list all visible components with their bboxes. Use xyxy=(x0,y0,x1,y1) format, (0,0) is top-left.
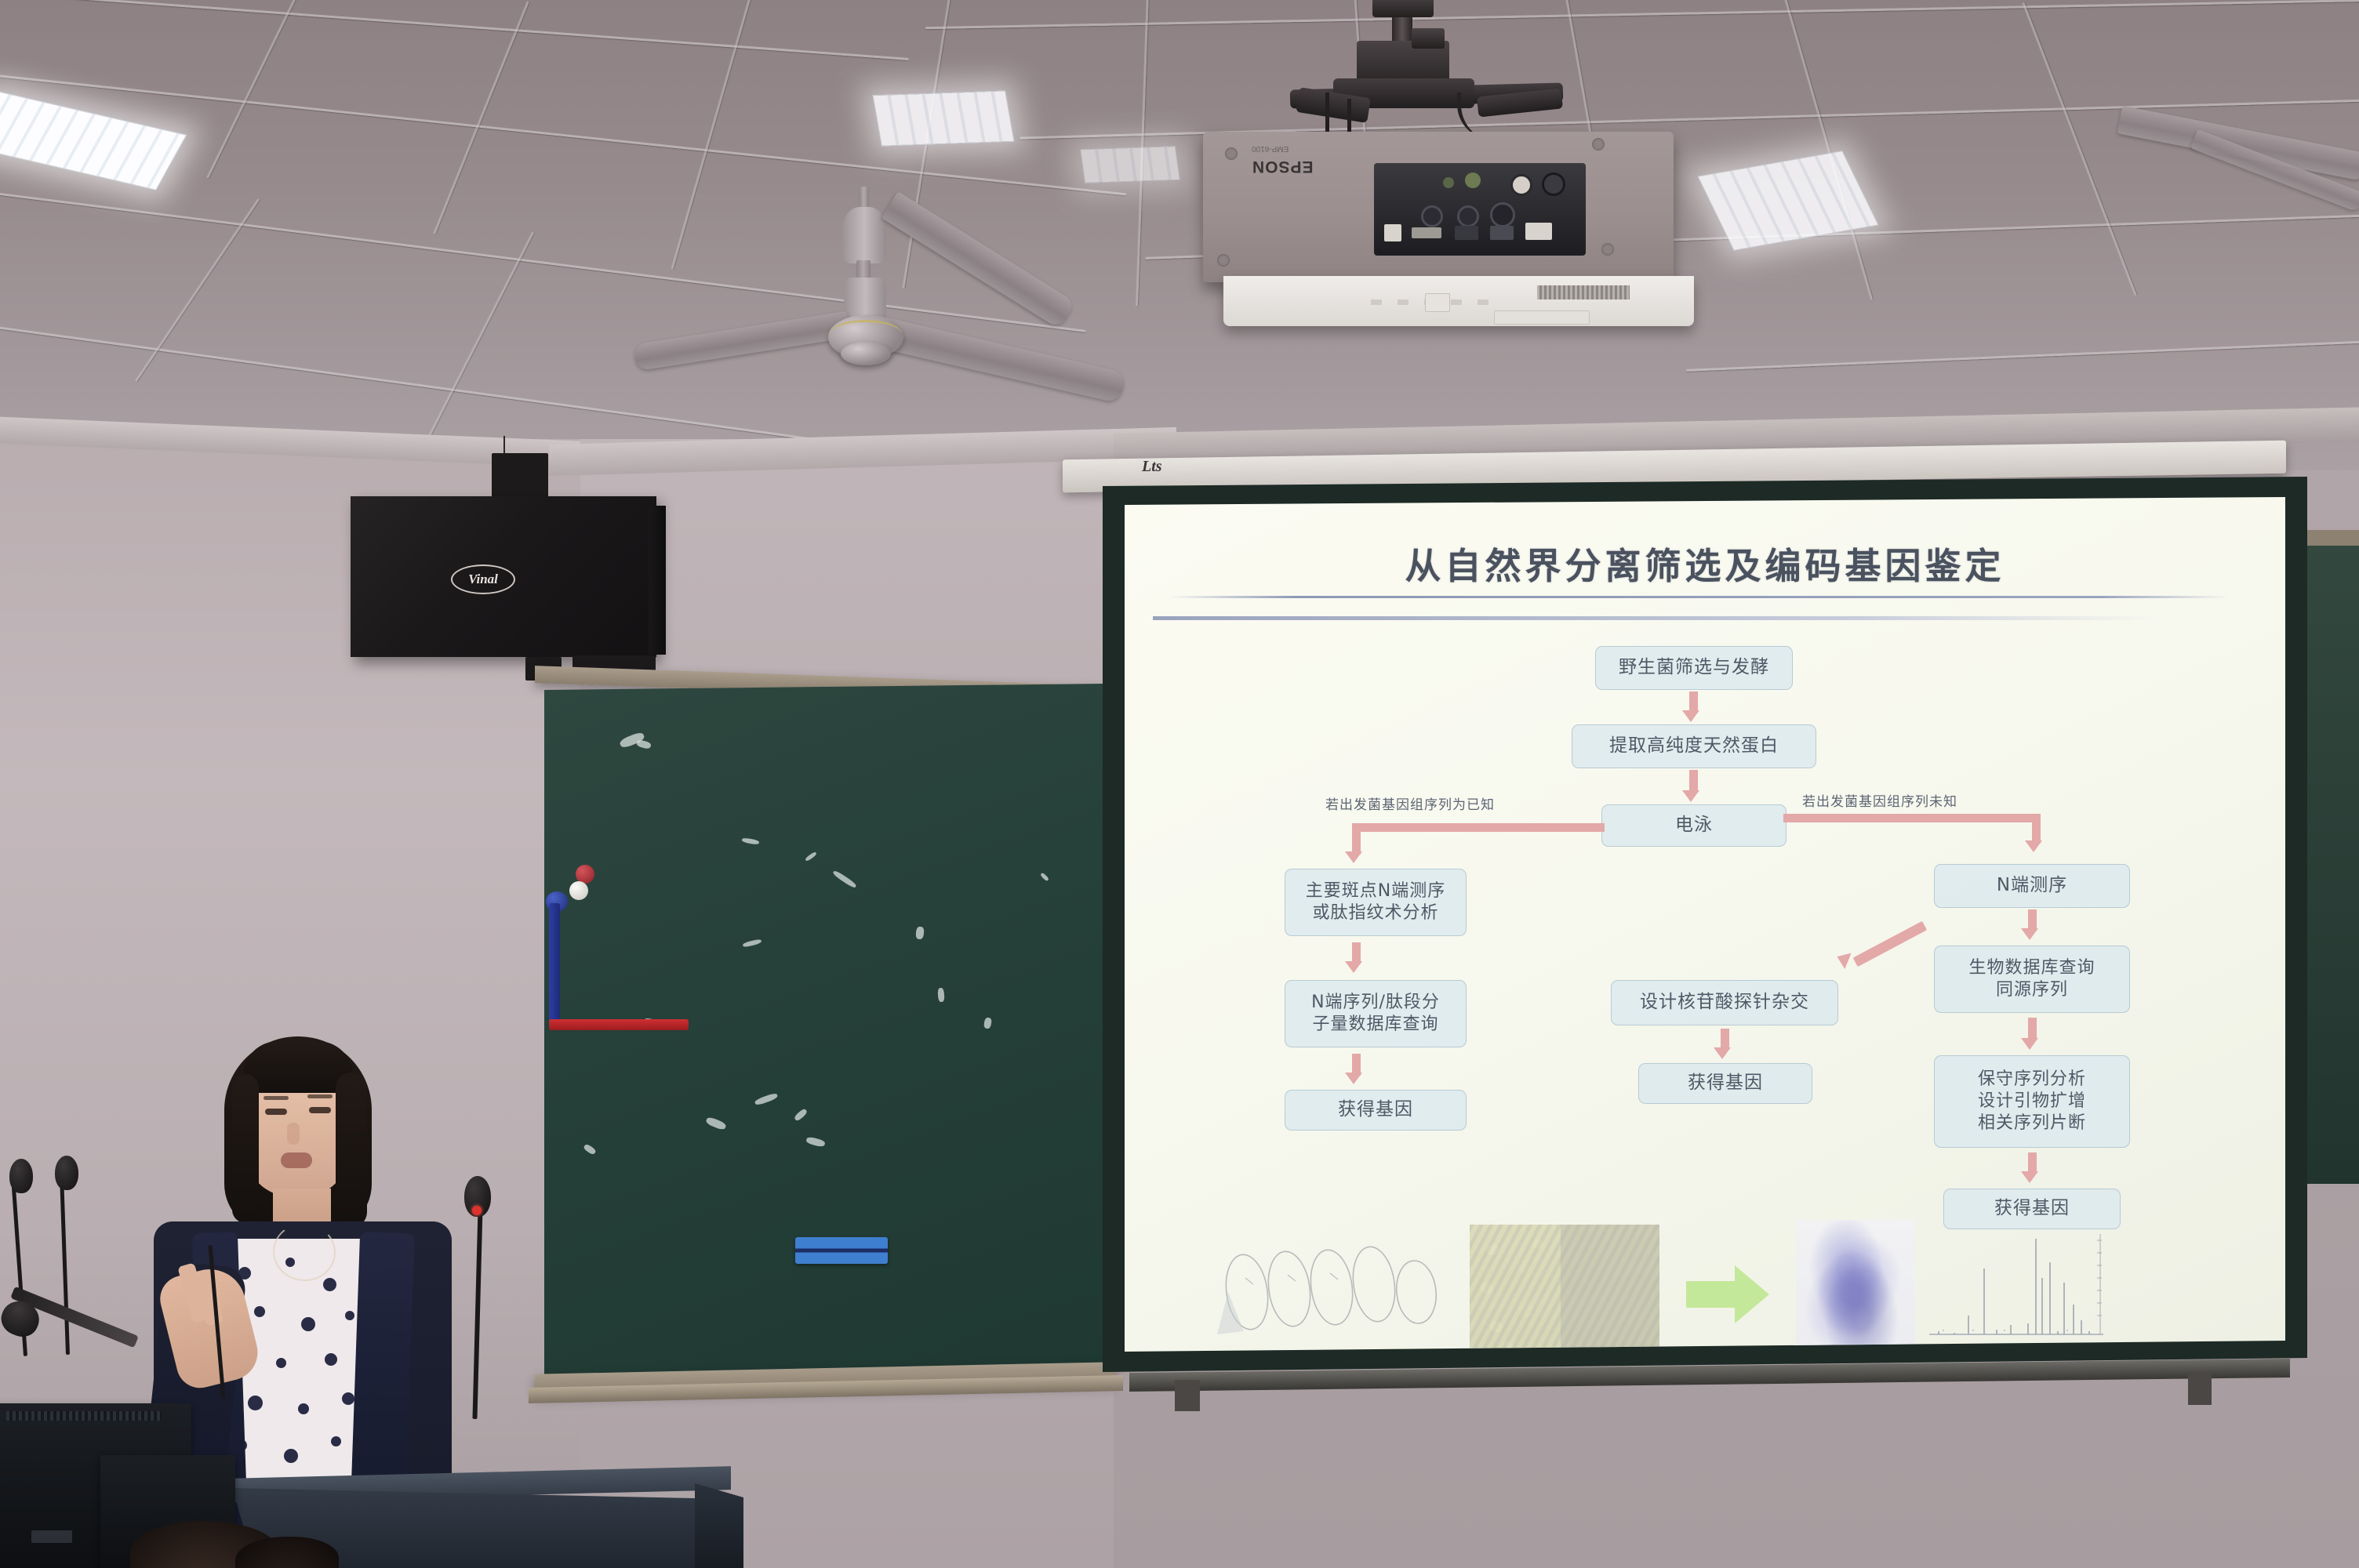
branch-label-right: 若出发菌基因组序列未知 xyxy=(1802,790,1957,810)
ceiling-light-center xyxy=(872,90,1014,147)
ceiling-light-far-right xyxy=(1080,146,1180,183)
flow-node-mid-2: 获得基因 xyxy=(1638,1063,1812,1104)
flow-node-left-2: N端序列/肽段分 子量数据库查询 xyxy=(1285,980,1467,1047)
flow-node-left-1: 主要斑点N端测序 或肽指纹术分析 xyxy=(1285,869,1467,936)
flow-node-right-3: 保守序列分析 设计引物扩增 相关序列片断 xyxy=(1934,1055,2130,1148)
branch-label-left: 若出发菌基因组序列为已知 xyxy=(1325,793,1495,813)
board-magnet-white[interactable] xyxy=(569,881,588,900)
board-strip-red[interactable] xyxy=(549,1019,689,1030)
speaker-brand-badge: Vinal xyxy=(451,564,515,594)
flow-node-right-3-line1: 保守序列分析 xyxy=(1978,1069,2086,1091)
flow-node-left-2-line1: N端序列/肽段分 xyxy=(1311,992,1440,1014)
board-strip-blue[interactable] xyxy=(549,903,560,1029)
flow-node-right-3-line2: 设计引物扩增 xyxy=(1978,1091,2086,1112)
slide-surface: 从自然界分离筛选及编码基因鉴定 野生菌筛选与发酵 提取高纯度天然蛋白 电泳 若出… xyxy=(1125,497,2285,1352)
flow-node-left-1-line2: 或肽指纹术分析 xyxy=(1312,902,1438,924)
dna-helix-figure xyxy=(1217,1243,1452,1352)
slide-content: 从自然界分离筛选及编码基因鉴定 野生菌筛选与发酵 提取高纯度天然蛋白 电泳 若出… xyxy=(1125,497,2285,1352)
colony-micrograph-figure xyxy=(1470,1225,1659,1352)
flow-node-left-2-line2: 子量数据库查询 xyxy=(1312,1014,1438,1036)
flow-node-right-2: 生物数据库查询 同源序列 xyxy=(1934,946,2130,1013)
microphone-head-2 xyxy=(55,1156,78,1190)
mass-spectrum-figure xyxy=(1918,1228,2113,1345)
board-eraser[interactable] xyxy=(795,1237,888,1264)
diagonal-connector-arrow xyxy=(1853,921,1927,967)
gel-blot-figure xyxy=(1796,1220,1915,1352)
flow-node-electrophoresis: 电泳 xyxy=(1601,804,1787,847)
flow-node-right-2-line2: 同源序列 xyxy=(1996,979,2068,1001)
screen-brand-label: Lts xyxy=(1142,458,1162,476)
slide-title: 从自然界分离筛选及编码基因鉴定 xyxy=(1125,538,2285,590)
flow-node-right-3-line3: 相关序列片断 xyxy=(1978,1112,2086,1134)
projector-model-label: EMP-6100 xyxy=(1252,144,1289,153)
flow-node-start: 野生菌筛选与发酵 xyxy=(1595,646,1793,690)
green-right-arrow-icon xyxy=(1686,1264,1771,1325)
monitor-label-plate xyxy=(31,1530,72,1543)
flow-node-left-1-line1: 主要斑点N端测序 xyxy=(1306,880,1445,902)
flow-node-right-2-line1: 生物数据库查询 xyxy=(1968,957,2095,979)
projector-brand-label: EPSON xyxy=(1252,157,1314,176)
microphone-head-1 xyxy=(9,1159,33,1193)
flow-node-right-1: N端测序 xyxy=(1934,864,2130,908)
flow-node-right-4: 获得基因 xyxy=(1943,1189,2121,1229)
lecture-hall-photo: EPSON EMP-6100 Vinal xyxy=(0,0,2359,1568)
diagonal-arrow-head xyxy=(1834,949,1851,969)
flow-node-mid-1: 设计核苷酸探针杂交 xyxy=(1611,980,1838,1025)
ceiling-light-left xyxy=(0,90,187,191)
flow-node-extract: 提取高纯度天然蛋白 xyxy=(1572,724,1816,768)
microphone-status-led xyxy=(472,1206,482,1215)
flow-node-left-3: 获得基因 xyxy=(1285,1090,1467,1131)
